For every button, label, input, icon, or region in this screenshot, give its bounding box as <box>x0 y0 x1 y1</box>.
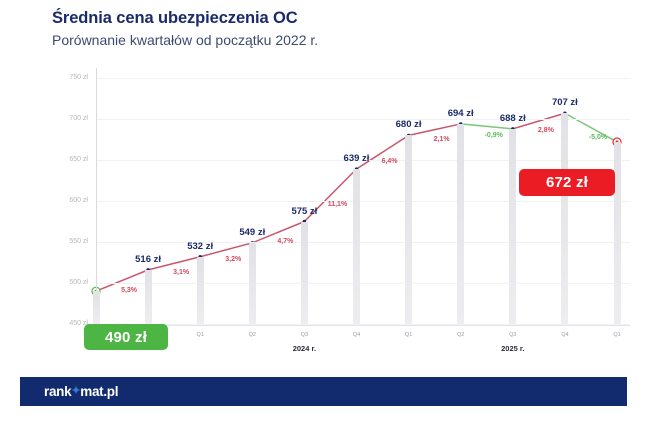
pct-change-label: 3,2% <box>213 256 253 263</box>
logo-text-second: mat.pl <box>80 384 118 399</box>
pct-change-label: 4,7% <box>265 238 305 245</box>
data-value-label: 707 zł <box>538 97 592 108</box>
value-bar <box>197 257 204 324</box>
chart-page: Średnia cena ubezpieczenia OC Porównanie… <box>0 0 647 422</box>
y-axis-tick-label: 700 zł <box>48 115 88 122</box>
y-axis-tick-label: 650 zł <box>48 156 88 163</box>
x-axis-tick-label: Q1 <box>597 332 637 338</box>
y-axis-tick-label: 750 zł <box>48 74 88 81</box>
x-axis-tick-label: Q2 <box>441 332 481 338</box>
grid-line <box>96 119 630 120</box>
pct-change-label: 2,8% <box>526 127 566 134</box>
star-icon: ✦ <box>71 386 80 397</box>
pct-change-label: -0,9% <box>474 132 514 139</box>
value-bar <box>509 129 516 324</box>
page-title: Średnia cena ubezpieczenia OC <box>52 8 318 28</box>
value-bar <box>614 142 621 324</box>
x-axis-tick-label: Q2 <box>232 332 272 338</box>
chart-plot-area: 450 zł500 zł550 zł600 zł650 zł700 zł750 … <box>0 62 647 357</box>
x-axis-year-label: 2025 r. <box>483 344 543 353</box>
grid-line <box>96 78 630 79</box>
rankomat-logo: rank ✦ mat.pl <box>44 384 118 399</box>
grid-line <box>96 283 630 284</box>
value-bar <box>561 113 568 324</box>
pct-change-label: 5,3% <box>109 287 149 294</box>
y-axis-tick-label: 500 zł <box>48 279 88 286</box>
first-value-callout: 490 zł <box>84 324 168 350</box>
data-value-label: 688 zł <box>486 113 540 124</box>
x-axis-tick-label: Q1 <box>389 332 429 338</box>
value-bar <box>301 222 308 325</box>
value-bar <box>353 169 360 324</box>
pct-change-label: 6,4% <box>370 158 410 165</box>
value-bar <box>145 270 152 324</box>
x-axis-tick-label: Q1 <box>180 332 220 338</box>
footer-bar: rank ✦ mat.pl <box>20 377 627 406</box>
data-value-label: 516 zł <box>121 254 175 265</box>
line-segment <box>461 124 513 129</box>
pct-change-label: 3,1% <box>161 269 201 276</box>
pct-change-label: 2,1% <box>422 136 462 143</box>
data-value-label: 532 zł <box>173 241 227 252</box>
data-value-label: 680 zł <box>382 119 436 130</box>
y-axis-tick-label: 550 zł <box>48 238 88 245</box>
x-axis-tick-label: Q3 <box>493 332 533 338</box>
last-value-callout: 672 zł <box>519 169 615 196</box>
x-axis-year-label: 2024 r. <box>274 344 334 353</box>
data-value-label: 549 zł <box>225 227 279 238</box>
y-axis-line <box>96 68 97 324</box>
pct-change-label: -5,0% <box>578 134 618 141</box>
y-axis-tick-label: 600 zł <box>48 197 88 204</box>
x-axis-tick-label: Q4 <box>545 332 585 338</box>
x-axis-line <box>96 325 630 326</box>
logo-text-first: rank <box>44 384 71 399</box>
data-value-label: 694 zł <box>434 108 488 119</box>
value-bar <box>457 124 464 324</box>
x-axis-tick-label: Q4 <box>337 332 377 338</box>
pct-change-label: 11,1% <box>317 201 357 208</box>
y-axis-tick-label: 450 zł <box>48 320 88 327</box>
x-axis-tick-label: Q3 <box>284 332 324 338</box>
chart-header: Średnia cena ubezpieczenia OC Porównanie… <box>52 8 318 50</box>
page-subtitle: Porównanie kwartałów od początku 2022 r. <box>52 30 318 50</box>
value-bar <box>93 291 100 324</box>
grid-line <box>96 201 630 202</box>
